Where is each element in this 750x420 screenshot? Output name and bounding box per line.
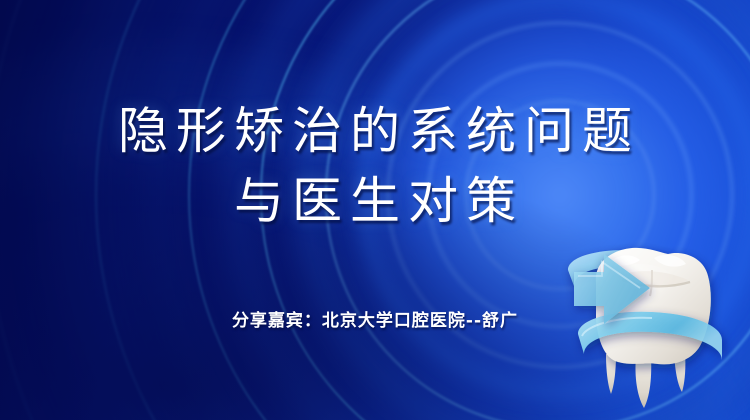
title-line-1: 隐形矫治的系统问题 [0, 96, 750, 166]
presentation-title-slide: 隐形矫治的系统问题 与医生对策 分享嘉宾：北京大学口腔医院--舒广 [0, 0, 750, 420]
page-title: 隐形矫治的系统问题 与医生对策 [0, 96, 750, 236]
title-line-2: 与医生对策 [0, 166, 750, 236]
speaker-subtitle: 分享嘉宾：北京大学口腔医院--舒广 [0, 309, 750, 333]
